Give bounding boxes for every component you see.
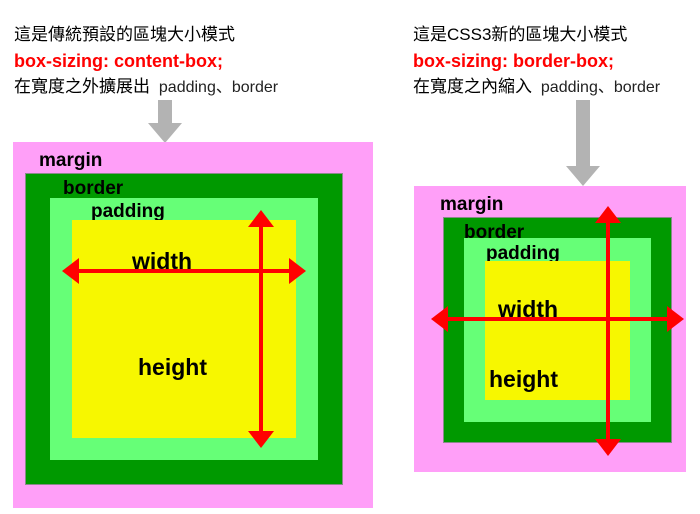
arrow-bar — [606, 217, 610, 445]
caption-line-3: 在寬度之外擴展出 padding、border — [14, 74, 278, 101]
padding-label: padding — [91, 202, 165, 221]
arrow-bar — [259, 221, 263, 437]
caption-code-border-box: box-sizing: border-box; — [413, 48, 660, 74]
gray-down-arrow-left — [148, 100, 182, 143]
border-box-caption: 這是CSS3新的區塊大小模式 box-sizing: border-box; 在… — [413, 22, 660, 101]
arrow-tip-down — [595, 439, 621, 456]
border-box-diagram: margin border padding width height — [414, 186, 686, 472]
arrow-shaft — [158, 100, 172, 124]
arrow-tip-down — [248, 431, 274, 448]
arrow-tip-right — [289, 258, 306, 284]
caption-line-3-suffix: padding、border — [159, 79, 278, 96]
caption-line-1: 這是CSS3新的區塊大小模式 — [413, 22, 660, 48]
diagram-canvas: 這是傳統預設的區塊大小模式 box-sizing: content-box; 在… — [0, 0, 700, 514]
height-label: height — [138, 356, 207, 379]
height-arrow — [595, 206, 621, 456]
border-label: border — [63, 179, 123, 198]
caption-line-3: 在寬度之內縮入 padding、border — [413, 74, 660, 101]
arrow-head — [566, 166, 600, 186]
content-box-caption: 這是傳統預設的區塊大小模式 box-sizing: content-box; 在… — [14, 22, 278, 101]
width-label: width — [498, 298, 558, 321]
gray-down-arrow-right — [566, 100, 600, 186]
caption-line-3-prefix: 在寬度之外擴展出 — [14, 77, 150, 96]
margin-label: margin — [440, 195, 503, 214]
width-label: width — [132, 250, 192, 273]
content-box-diagram: margin border padding width height — [13, 142, 373, 508]
margin-label: margin — [39, 151, 102, 170]
caption-line-3-suffix: padding、border — [541, 79, 660, 96]
arrow-tip-right — [667, 306, 684, 332]
caption-line-3-prefix: 在寬度之內縮入 — [413, 77, 532, 96]
caption-line-1: 這是傳統預設的區塊大小模式 — [14, 22, 278, 48]
height-label: height — [489, 368, 558, 391]
arrow-head — [148, 123, 182, 143]
height-arrow — [248, 210, 274, 448]
caption-code-content-box: box-sizing: content-box; — [14, 48, 278, 74]
arrow-shaft — [576, 100, 590, 167]
